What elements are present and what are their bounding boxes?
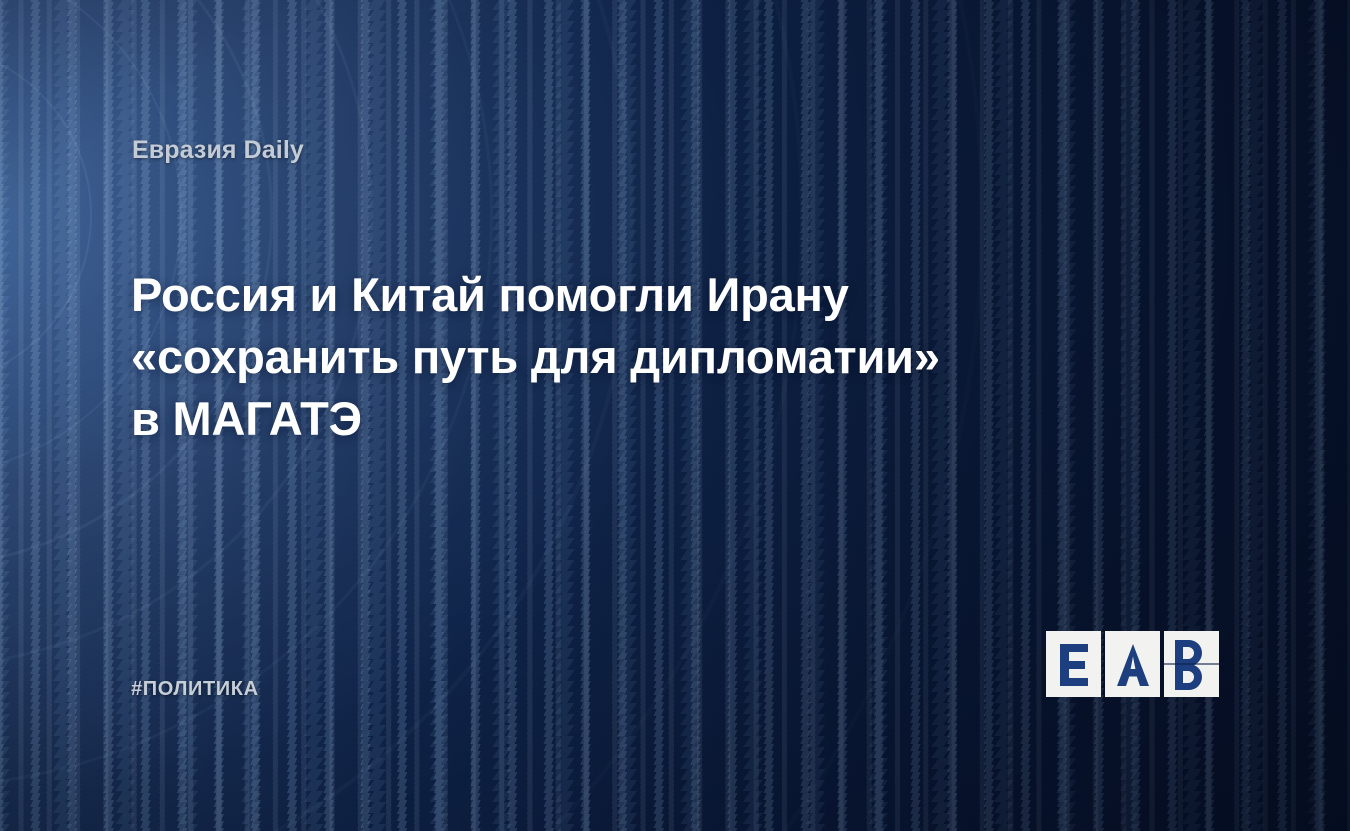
logo-letter-d-tile [1164, 631, 1219, 697]
headline-line-1: Россия и Китай помогли Ирану [131, 264, 1091, 326]
headline-line-2: «сохранить путь для дипломатии» [131, 326, 1091, 388]
logo-letter-e-tile [1046, 631, 1101, 697]
brand-name: Евразия Daily [132, 136, 304, 165]
article-share-card: Евразия Daily Россия и Китай помогли Ира… [0, 0, 1350, 831]
letter-e-icon [1057, 642, 1091, 686]
logo-letter-a-tile [1105, 631, 1160, 697]
page-title: Россия и Китай помогли Ирану «сохранить … [131, 264, 1091, 450]
logo-d-divider [1164, 663, 1219, 665]
ead-logo[interactable] [1046, 631, 1219, 697]
category-hashtag[interactable]: #ПОЛИТИКА [131, 678, 259, 701]
letter-a-icon [1115, 642, 1151, 686]
headline-line-3: в МАГАТЭ [131, 388, 1091, 450]
